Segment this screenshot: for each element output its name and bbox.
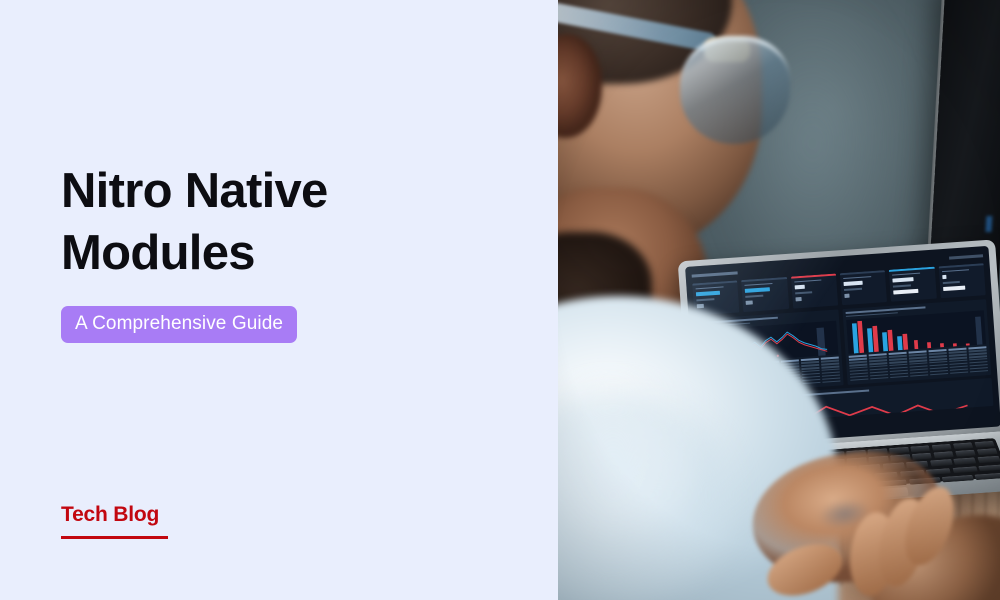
- page-title: Nitro Native Modules: [61, 160, 481, 284]
- blog-cover: Nitro Native Modules A Comprehensive Gui…: [0, 0, 1000, 600]
- bar-chart-card: [842, 299, 991, 385]
- kpi-card: [938, 263, 985, 298]
- glasses-lens: [680, 36, 790, 144]
- subtitle-badge-row: A Comprehensive Guide: [61, 306, 297, 343]
- brand-underline: [61, 536, 168, 539]
- hero-photo: [558, 0, 1000, 600]
- dashboard-chip: [949, 254, 983, 259]
- brand-label: Tech Blog: [61, 503, 168, 527]
- kpi-card: [791, 274, 838, 309]
- left-text-panel: Nitro Native Modules A Comprehensive Gui…: [0, 0, 558, 600]
- kpi-card: [840, 270, 887, 305]
- subtitle-badge: A Comprehensive Guide: [61, 306, 297, 343]
- dashboard-title-placeholder: [692, 271, 738, 277]
- dashboard-topbar-actions: [949, 254, 983, 259]
- left-panel-content: Nitro Native Modules A Comprehensive Gui…: [61, 0, 521, 600]
- brand-block: Tech Blog: [61, 503, 168, 539]
- kpi-card: [741, 277, 788, 312]
- kpi-card: [889, 267, 936, 302]
- monitor-glint: [985, 216, 992, 232]
